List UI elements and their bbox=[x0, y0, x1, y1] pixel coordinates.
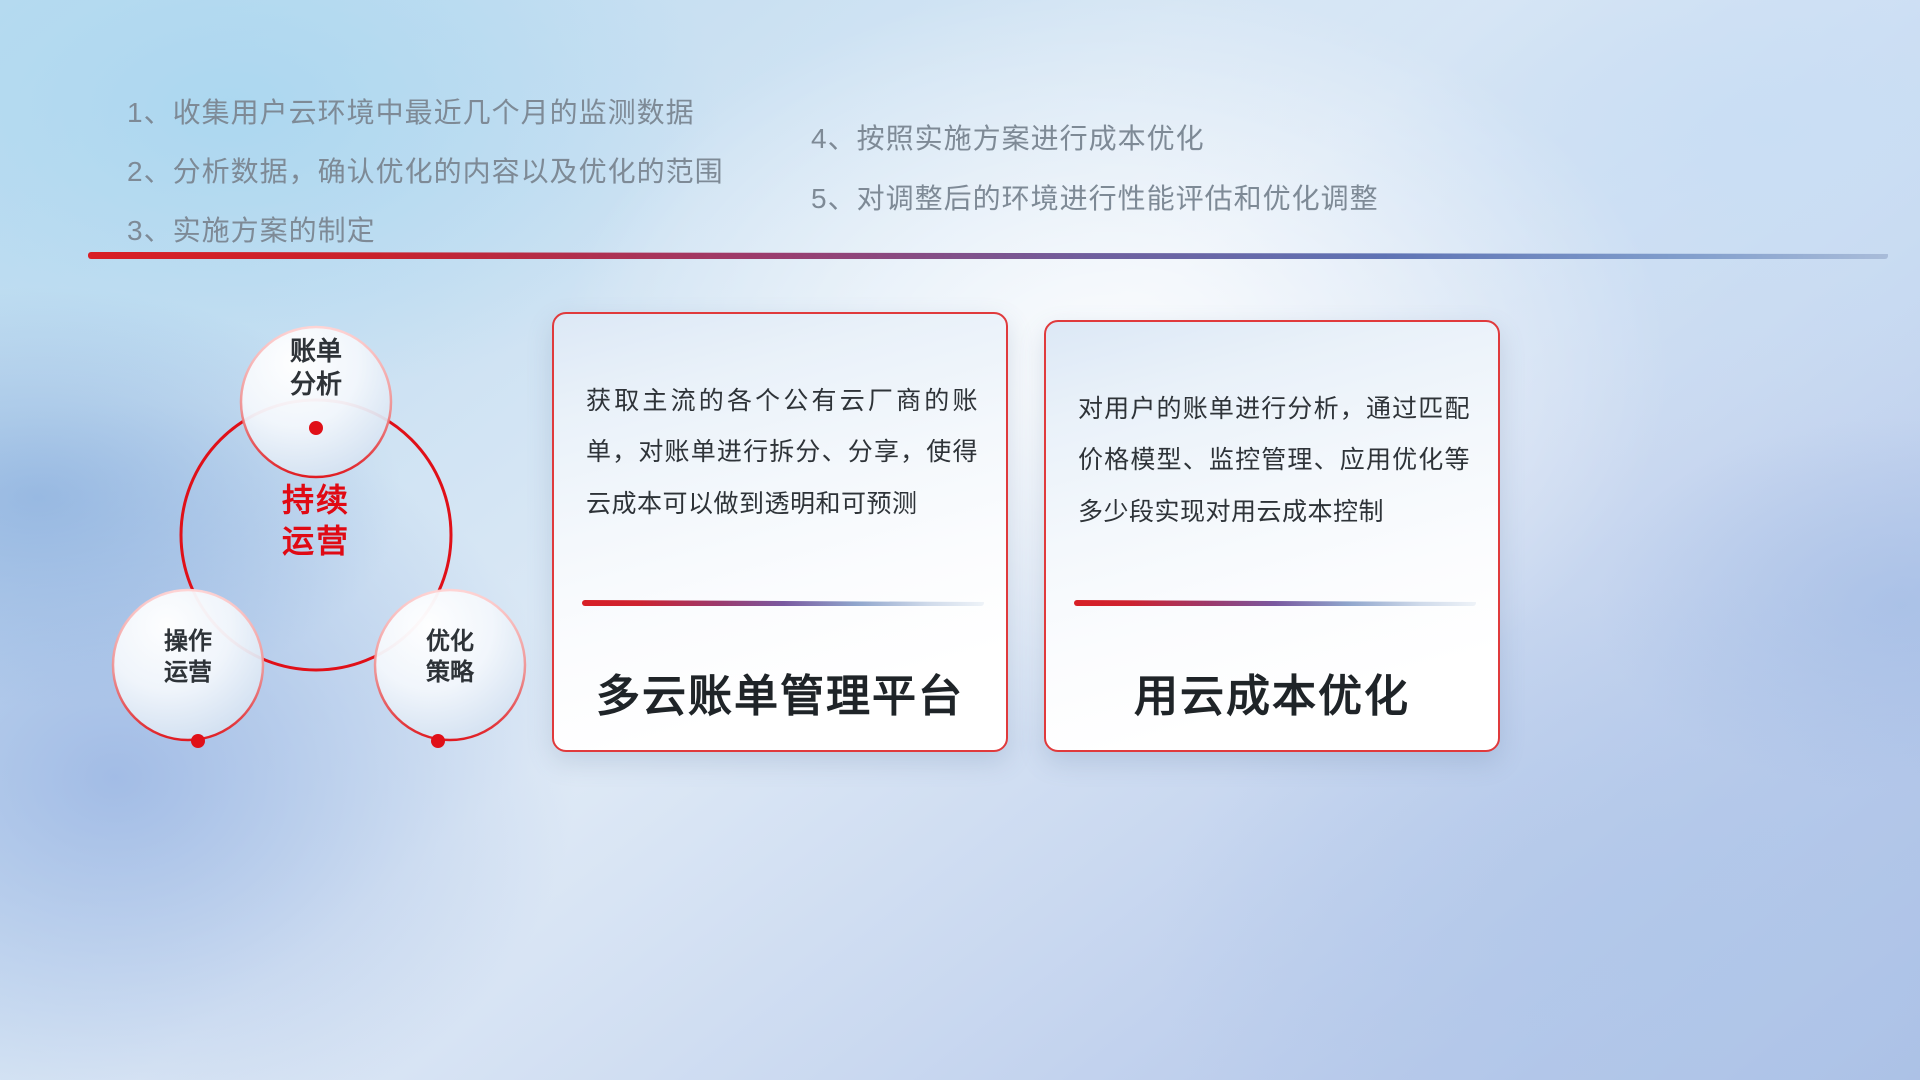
venn-label-operation-line1: 操作 bbox=[128, 627, 248, 658]
bullet-item-1: 1、收集用户云环境中最近几个月的监测数据 bbox=[127, 99, 724, 127]
bullet-item-4: 4、按照实施方案进行成本优化 bbox=[811, 125, 1379, 153]
node-dot-optimize bbox=[431, 734, 445, 748]
bullet-list-right: 4、按照实施方案进行成本优化 5、对调整后的环境进行性能评估和优化调整 bbox=[811, 125, 1379, 245]
venn-label-bill-line1: 账单 bbox=[256, 335, 376, 368]
bullet-list-left: 1、收集用户云环境中最近几个月的监测数据 2、分析数据，确认优化的内容以及优化的… bbox=[127, 99, 724, 276]
card-1-title: 多云账单管理平台 bbox=[554, 660, 1006, 724]
venn-label-optimize-policy: 优化 策略 bbox=[390, 627, 510, 688]
venn-label-optimize-line1: 优化 bbox=[390, 627, 510, 658]
card-cloud-cost-optimization[interactable]: 对用户的账单进行分析，通过匹配价格模型、监控管理、应用优化等多少段实现对用云成本… bbox=[1044, 320, 1500, 752]
venn-label-operation-line2: 运营 bbox=[128, 658, 248, 689]
divider-bar bbox=[88, 252, 1888, 259]
bullet-item-3: 3、实施方案的制定 bbox=[127, 217, 724, 245]
venn-diagram: 账单 分析 持续 运营 操作 运营 优化 策略 bbox=[60, 285, 540, 765]
venn-label-bill-analysis: 账单 分析 bbox=[256, 335, 376, 402]
bullet-item-5: 5、对调整后的环境进行性能评估和优化调整 bbox=[811, 185, 1379, 213]
venn-label-optimize-line2: 策略 bbox=[390, 658, 510, 689]
section-divider bbox=[88, 252, 1888, 259]
venn-label-core: 持续 运营 bbox=[256, 480, 376, 562]
venn-label-core-line2: 运营 bbox=[256, 521, 376, 562]
card-2-title: 用云成本优化 bbox=[1046, 660, 1498, 724]
card-2-body-text: 对用户的账单进行分析，通过匹配价格模型、监控管理、应用优化等多少段实现对用云成本… bbox=[1078, 384, 1470, 538]
venn-label-operation: 操作 运营 bbox=[128, 627, 248, 688]
card-1-divider bbox=[582, 600, 984, 606]
venn-label-core-line1: 持续 bbox=[256, 480, 376, 521]
node-dot-bill bbox=[309, 421, 323, 435]
bullet-item-2: 2、分析数据，确认优化的内容以及优化的范围 bbox=[127, 158, 724, 186]
venn-label-bill-line2: 分析 bbox=[256, 368, 376, 401]
node-dot-operation bbox=[191, 734, 205, 748]
card-2-divider bbox=[1074, 600, 1476, 606]
card-multi-cloud-billing-platform[interactable]: 获取主流的各个公有云厂商的账单，对账单进行拆分、分享，使得云成本可以做到透明和可… bbox=[552, 312, 1008, 752]
card-1-body-text: 获取主流的各个公有云厂商的账单，对账单进行拆分、分享，使得云成本可以做到透明和可… bbox=[586, 376, 978, 530]
